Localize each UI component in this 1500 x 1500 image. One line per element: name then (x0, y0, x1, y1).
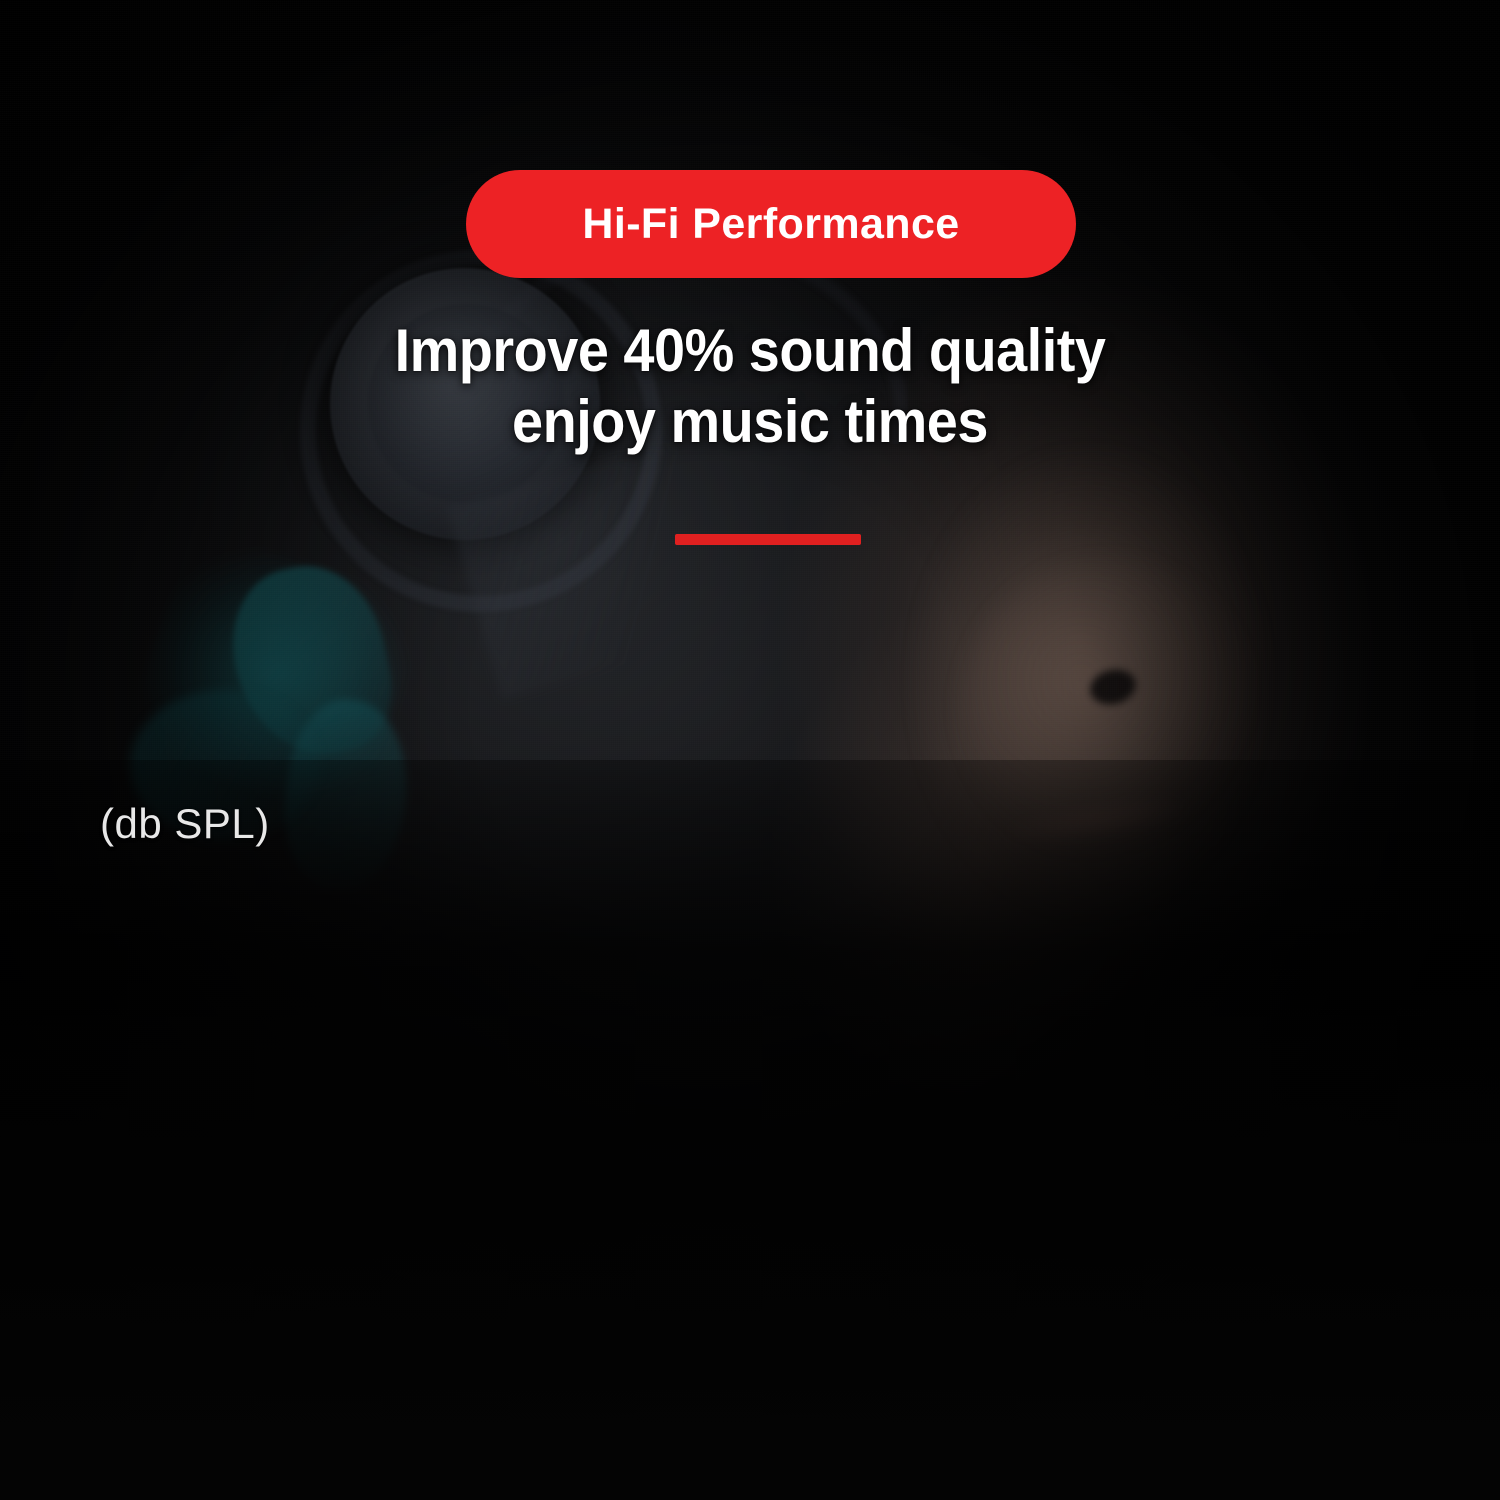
promo-banner: Hi-Fi Performance Improve 40% sound qual… (0, 0, 1500, 1500)
frequency-response-chart: 9080706050 20501002005001K2K5K10K20K(HZ) (0, 780, 1500, 1400)
headline-line-2: enjoy music times (53, 387, 1448, 458)
badge-label: Hi-Fi Performance (582, 200, 959, 249)
headline-line-1: Improve 40% sound quality (395, 317, 1106, 384)
page-title: Improve 40% sound quality enjoy music ti… (53, 316, 1448, 458)
accent-divider (675, 534, 861, 545)
hifi-performance-badge: Hi-Fi Performance (466, 170, 1076, 278)
